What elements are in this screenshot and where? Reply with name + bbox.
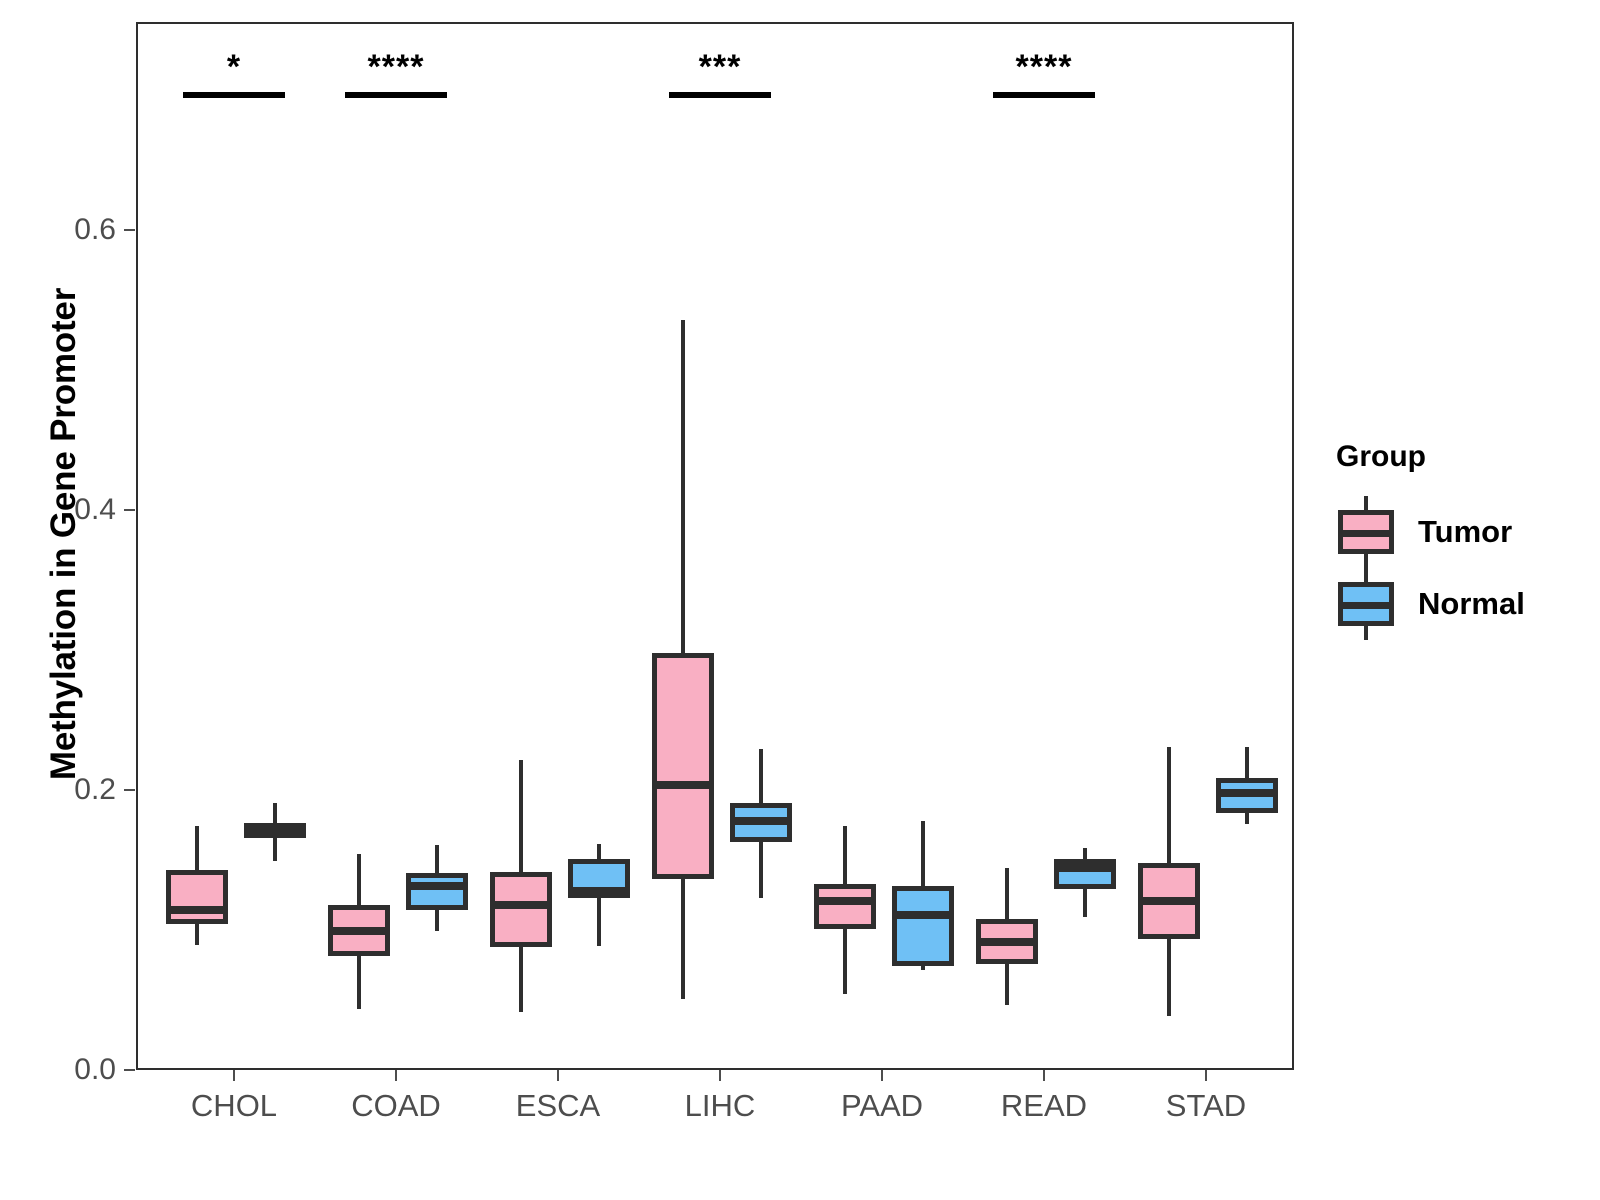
legend-items: TumorNormal (1336, 496, 1586, 640)
significance-bar-lihc (669, 92, 771, 98)
legend-item-tumor[interactable]: Tumor (1336, 496, 1586, 568)
legend: Group TumorNormal (1336, 440, 1586, 640)
legend-median (1338, 602, 1394, 609)
x-tick-mark (881, 1070, 883, 1081)
x-tick-mark (1043, 1070, 1045, 1081)
legend-item-normal[interactable]: Normal (1336, 568, 1586, 640)
legend-key-icon (1336, 568, 1396, 640)
y-tick-label: 0.2 (0, 773, 116, 807)
x-tick-mark (395, 1070, 397, 1081)
y-tick-mark (124, 789, 135, 791)
significance-label-coad: **** (368, 50, 425, 84)
x-tick-mark (719, 1070, 721, 1081)
significance-bar-chol (183, 92, 285, 98)
significance-label-read: **** (1016, 50, 1073, 84)
significance-label-lihc: *** (699, 50, 742, 84)
significance-bar-read (993, 92, 1095, 98)
y-tick-mark (124, 509, 135, 511)
plot-area (138, 24, 1292, 1068)
legend-label: Tumor (1418, 514, 1512, 550)
significance-label-chol: * (227, 50, 241, 84)
chart-figure: Methylation in Gene Promoter Group Tumor… (0, 0, 1600, 1200)
x-tick-mark (233, 1070, 235, 1081)
legend-title: Group (1336, 440, 1586, 474)
boxplot-stad-normal[interactable] (138, 24, 1292, 1068)
y-tick-label: 0.6 (0, 213, 116, 247)
x-tick-mark (557, 1070, 559, 1081)
legend-label: Normal (1418, 586, 1525, 622)
legend-median (1338, 530, 1394, 537)
y-tick-mark (124, 1069, 135, 1071)
y-tick-label: 0.4 (0, 493, 116, 527)
significance-bar-coad (345, 92, 447, 98)
x-tick-mark (1205, 1070, 1207, 1081)
y-tick-mark (124, 229, 135, 231)
x-tick-label-stad: STAD (1106, 1088, 1306, 1124)
y-tick-label: 0.0 (0, 1053, 116, 1087)
median-line (1216, 789, 1278, 797)
legend-key-icon (1336, 496, 1396, 568)
plot-panel (136, 22, 1294, 1070)
